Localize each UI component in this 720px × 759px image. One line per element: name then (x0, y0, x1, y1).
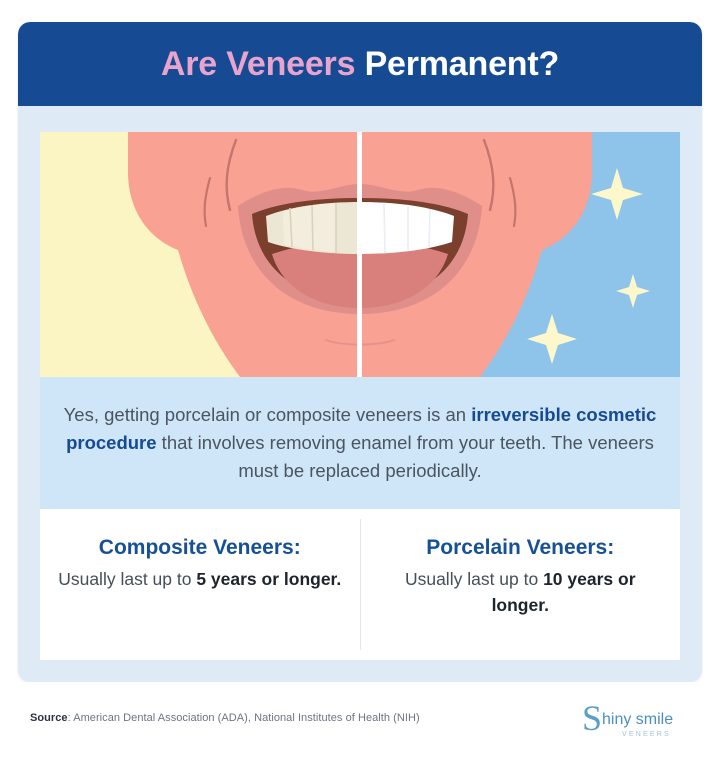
tooth-line-b2 (312, 205, 313, 250)
title-light-part: Are Veneers (161, 45, 365, 83)
tooth-line-a3 (429, 209, 430, 247)
composite-body-suffix: or longer. (257, 569, 342, 589)
source-label: Source (30, 712, 68, 724)
statement-part-2: that involves removing enamel from your … (157, 432, 654, 481)
composite-body-prefix: Usually last up to (58, 569, 196, 589)
brand-logo[interactable]: S hiny smile VENEERS (580, 696, 698, 742)
statement-panel: Yes, getting porcelain or composite vene… (40, 377, 680, 509)
before-after-smile-illustration (40, 132, 680, 377)
before-after-divider (357, 132, 362, 377)
tooth-line-a1 (384, 204, 385, 253)
composite-veneers-column: Composite Veneers: Usually last up to 5 … (40, 509, 360, 660)
infographic-page: Are Veneers Permanent? (0, 0, 720, 759)
shiny-smile-veneers-logo: S hiny smile VENEERS (580, 696, 698, 742)
statement-text: Yes, getting porcelain or composite vene… (60, 401, 660, 485)
title-bold-part: Permanent? (365, 45, 560, 83)
statement-part-1: Yes, getting porcelain or composite vene… (64, 404, 472, 425)
veneer-comparison-columns: Composite Veneers: Usually last up to 5 … (40, 509, 680, 660)
porcelain-veneers-column: Porcelain Veneers: Usually last up to 10… (361, 509, 681, 660)
page-footer: Source: American Dental Association (ADA… (0, 682, 720, 759)
smile-graphic (40, 132, 680, 377)
infographic-card: Are Veneers Permanent? (18, 22, 702, 682)
composite-duration: 5 years (196, 569, 256, 589)
page-title: Are Veneers Permanent? (161, 47, 559, 81)
source-citation: Source: American Dental Association (ADA… (30, 712, 420, 724)
logo-wordmark: hiny smile (602, 711, 673, 728)
porcelain-duration: 10 years (543, 569, 613, 589)
logo-monogram-s: S (582, 698, 602, 738)
porcelain-body-prefix: Usually last up to (405, 569, 543, 589)
composite-veneers-title: Composite Veneers: (58, 535, 342, 561)
porcelain-veneers-body: Usually last up to 10 years or longer. (379, 567, 663, 618)
composite-veneers-body: Usually last up to 5 years or longer. (58, 567, 342, 592)
porcelain-veneers-title: Porcelain Veneers: (379, 535, 663, 561)
source-text: : American Dental Association (ADA), Nat… (68, 712, 420, 724)
card-header: Are Veneers Permanent? (18, 22, 702, 106)
logo-subtitle: VENEERS (622, 731, 671, 738)
